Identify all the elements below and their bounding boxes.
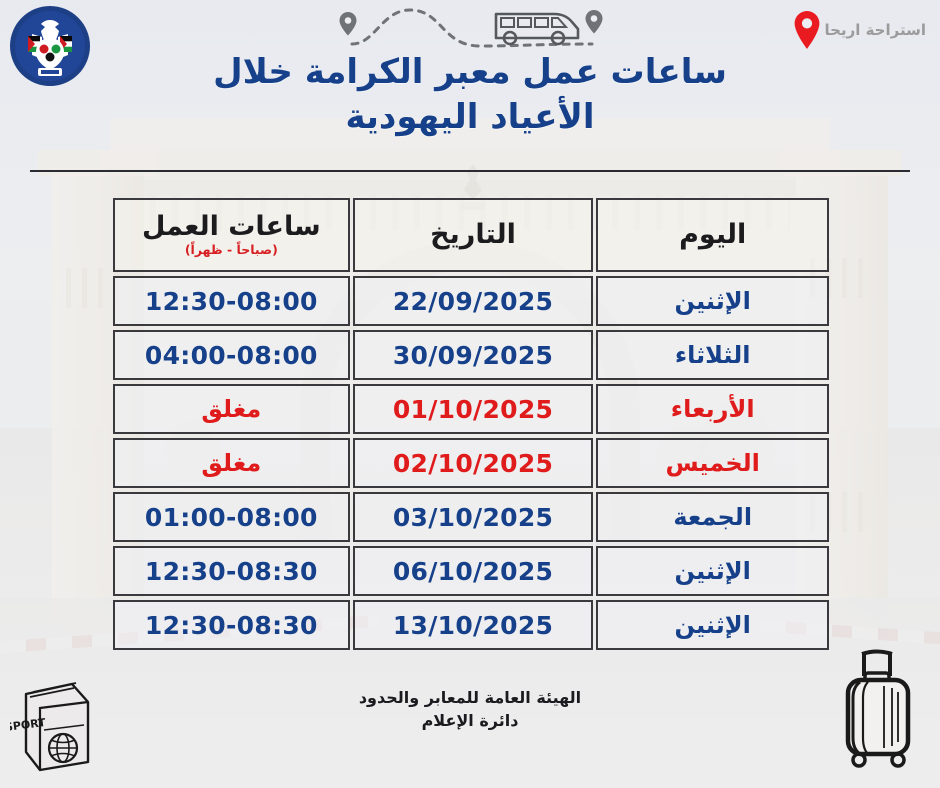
footer-department-name: دائرة الإعلام <box>0 709 940 732</box>
bus-icon <box>496 14 578 44</box>
cell-day: الأربعاء <box>596 384 829 434</box>
header-divider <box>30 170 910 172</box>
cell-day: الخميس <box>596 438 829 488</box>
poster-footer: الهيئة العامة للمعابر والحدود دائرة الإع… <box>0 686 940 732</box>
table-row: الإثنين06/10/202512:30-08:30 <box>113 546 829 596</box>
cell-hours-text: 01:00-08:00 <box>115 505 348 530</box>
poster-canvas: استراحة اريحا ساعات عمل معبر الكرامة خلا… <box>0 0 940 788</box>
cell-date-text: 22/09/2025 <box>355 289 592 314</box>
cell-day-text: الإثنين <box>598 559 827 583</box>
table-row: الخميس02/10/2025مغلق <box>113 438 829 488</box>
cell-hours-text: 12:30-08:30 <box>115 559 348 584</box>
cell-hours-text: 12:30-08:30 <box>115 613 348 638</box>
column-header-hours: ساعات العمل (صباحاً - ظهراً) <box>113 198 350 272</box>
cell-date: 06/10/2025 <box>353 546 594 596</box>
cell-day: الثلاثاء <box>596 330 829 380</box>
cell-day-text: الخميس <box>598 451 827 475</box>
cell-hours: 04:00-08:00 <box>113 330 350 380</box>
cell-day: الإثنين <box>596 546 829 596</box>
cell-date: 02/10/2025 <box>353 438 594 488</box>
schedule-table-head: اليوم التاريخ ساعات العمل (صباحاً - ظهرا… <box>113 198 829 272</box>
cell-day: الجمعة <box>596 492 829 542</box>
cell-hours-text: مغلق <box>115 451 348 475</box>
column-header-hours-sublabel: (صباحاً - ظهراً) <box>115 242 348 257</box>
cell-date-text: 03/10/2025 <box>355 505 592 530</box>
cell-date: 01/10/2025 <box>353 384 594 434</box>
table-row: الثلاثاء30/09/202504:00-08:00 <box>113 330 829 380</box>
resthouse-label: استراحة اريحا <box>825 21 926 39</box>
table-row: الإثنين13/10/202512:30-08:30 <box>113 600 829 650</box>
cell-date: 03/10/2025 <box>353 492 594 542</box>
table-row: الجمعة03/10/202501:00-08:00 <box>113 492 829 542</box>
cell-hours: مغلق <box>113 384 350 434</box>
cell-date-text: 01/10/2025 <box>355 397 592 422</box>
cell-hours: مغلق <box>113 438 350 488</box>
cell-day-text: الإثنين <box>598 613 827 637</box>
table-row: الإثنين22/09/202512:30-08:00 <box>113 276 829 326</box>
table-row: الأربعاء01/10/2025مغلق <box>113 384 829 434</box>
cell-day-text: الجمعة <box>598 505 827 529</box>
cell-day: الإثنين <box>596 600 829 650</box>
cell-day-text: الثلاثاء <box>598 343 827 367</box>
cell-date-text: 30/09/2025 <box>355 343 592 368</box>
page-title-line-1: ساعات عمل معبر الكرامة خلال <box>0 50 940 95</box>
cell-date-text: 02/10/2025 <box>355 451 592 476</box>
cell-day: الإثنين <box>596 276 829 326</box>
table-header-row: اليوم التاريخ ساعات العمل (صباحاً - ظهرا… <box>113 198 829 272</box>
column-header-hours-label: ساعات العمل <box>142 211 321 242</box>
footer-authority-name: الهيئة العامة للمعابر والحدود <box>0 686 940 709</box>
cell-day-text: الإثنين <box>598 289 827 313</box>
cell-hours-text: 12:30-08:00 <box>115 289 348 314</box>
cell-hours: 12:30-08:00 <box>113 276 350 326</box>
column-header-date-label: التاريخ <box>430 219 516 250</box>
cell-hours-text: مغلق <box>115 397 348 421</box>
cell-hours: 01:00-08:00 <box>113 492 350 542</box>
resthouse-badge: استراحة اريحا <box>793 10 926 50</box>
page-title-line-2: الأعياد اليهودية <box>0 95 940 140</box>
column-header-day-label: اليوم <box>679 219 746 250</box>
location-pin-icon <box>793 10 821 50</box>
poster-header: استراحة اريحا ساعات عمل معبر الكرامة خلا… <box>0 0 940 172</box>
cell-date: 30/09/2025 <box>353 330 594 380</box>
cell-date: 22/09/2025 <box>353 276 594 326</box>
schedule-table-body: الإثنين22/09/202512:30-08:00الثلاثاء30/0… <box>113 276 829 650</box>
cell-date: 13/10/2025 <box>353 600 594 650</box>
cell-hours: 12:30-08:30 <box>113 600 350 650</box>
cell-date-text: 06/10/2025 <box>355 559 592 584</box>
column-header-date: التاريخ <box>353 198 594 272</box>
schedule-table: اليوم التاريخ ساعات العمل (صباحاً - ظهرا… <box>110 194 832 654</box>
cell-date-text: 13/10/2025 <box>355 613 592 638</box>
cell-day-text: الأربعاء <box>598 397 827 421</box>
cell-hours: 12:30-08:30 <box>113 546 350 596</box>
cell-hours-text: 04:00-08:00 <box>115 343 348 368</box>
page-title: ساعات عمل معبر الكرامة خلال الأعياد اليه… <box>0 50 940 140</box>
column-header-day: اليوم <box>596 198 829 272</box>
